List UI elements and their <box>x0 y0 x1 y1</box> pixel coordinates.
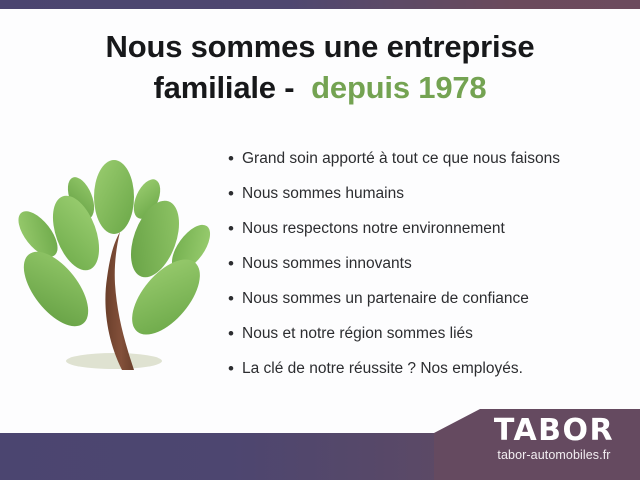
footer-band-left <box>0 433 460 480</box>
benefits-list: • Grand soin apporté à tout ce que nous … <box>228 148 628 393</box>
brand-name: TABOR <box>478 414 630 448</box>
bullet-icon: • <box>228 288 242 310</box>
tree-shadow <box>66 353 162 369</box>
bullet-icon: • <box>228 218 242 240</box>
page-title: Nous sommes une entreprise familiale - d… <box>0 26 640 108</box>
bullet-icon: • <box>228 358 242 380</box>
bullet-icon: • <box>228 253 242 275</box>
list-item-label: Nous sommes un partenaire de confiance <box>242 288 529 310</box>
list-item: • Grand soin apporté à tout ce que nous … <box>228 148 628 183</box>
list-item-label: Nous sommes innovants <box>242 253 412 275</box>
list-item: • Nous sommes innovants <box>228 253 628 288</box>
slide-canvas: Nous sommes une entreprise familiale - d… <box>0 0 640 480</box>
list-item: • Nous respectons notre environnement <box>228 218 628 253</box>
list-item-label: Nous respectons notre environnement <box>242 218 505 240</box>
bullet-icon: • <box>228 148 242 170</box>
list-item-label: Nous sommes humains <box>242 183 404 205</box>
list-item-label: Nous et notre région sommes liés <box>242 323 473 345</box>
page-title-line-2: familiale - depuis 1978 <box>0 67 640 108</box>
brand-website: tabor-automobiles.fr <box>478 447 630 464</box>
list-item: • La clé de notre réussite ? Nos employé… <box>228 358 628 393</box>
list-item-label: La clé de notre réussite ? Nos employés. <box>242 358 523 380</box>
bullet-icon: • <box>228 323 242 345</box>
top-accent-bar <box>0 0 640 9</box>
tree-illustration <box>10 142 222 390</box>
tree-trunk <box>105 232 134 370</box>
list-item: • Nous et notre région sommes liés <box>228 323 628 358</box>
page-title-line-1: Nous sommes une entreprise <box>106 29 535 64</box>
page-title-line-2-plain: familiale - <box>154 70 312 105</box>
list-item: • Nous sommes humains <box>228 183 628 218</box>
bullet-icon: • <box>228 183 242 205</box>
list-item-label: Grand soin apporté à tout ce que nous fa… <box>242 148 560 170</box>
brand-logo: TABOR tabor-automobiles.fr <box>478 414 630 464</box>
page-title-accent: depuis 1978 <box>311 70 486 105</box>
list-item: • Nous sommes un partenaire de confiance <box>228 288 628 323</box>
